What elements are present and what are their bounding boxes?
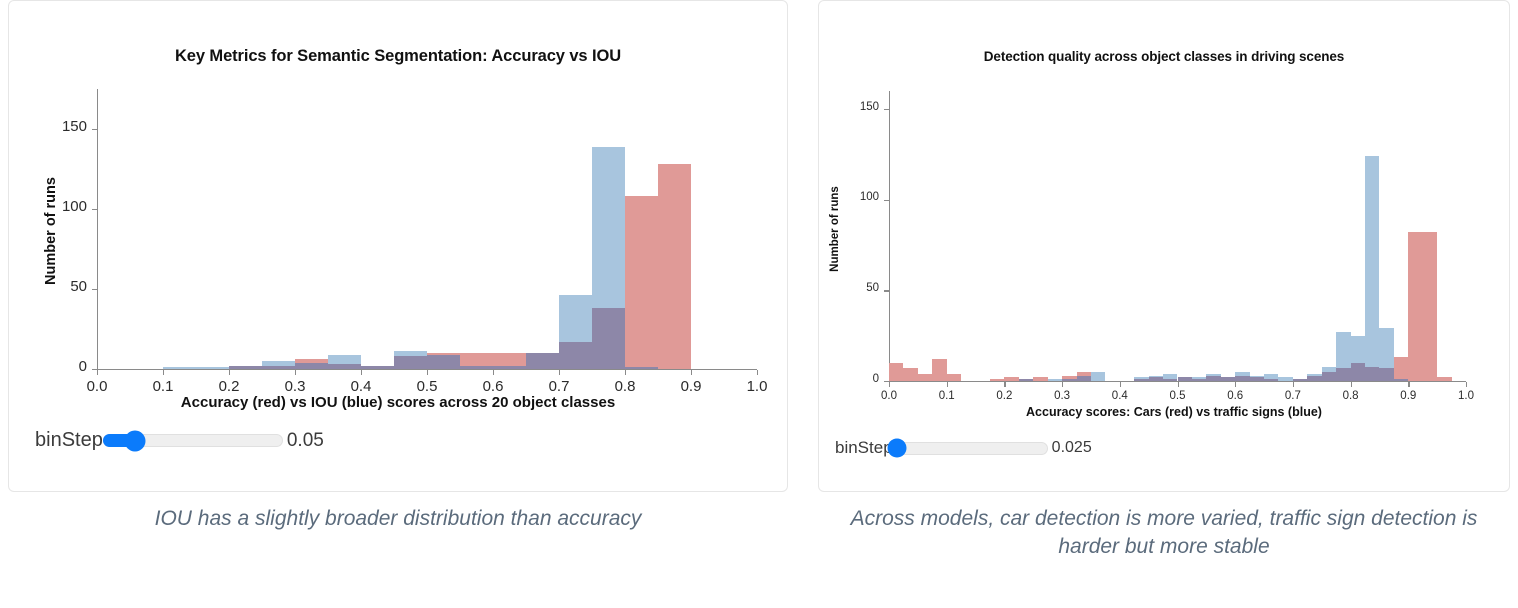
bar-overlap (1394, 379, 1408, 381)
y-tick-label: 100 (62, 198, 87, 215)
bar-overlap (1365, 367, 1379, 382)
bar-overlap (262, 366, 295, 369)
bar-blue (1365, 156, 1379, 381)
x-tick-label: 0.7 (1285, 390, 1301, 402)
x-tick-label: 0.8 (615, 378, 636, 395)
bar-overlap (361, 366, 394, 369)
bar-blue (196, 367, 229, 369)
bar-red (889, 363, 903, 381)
x-tick (1120, 382, 1121, 387)
y-tick-label: 50 (70, 278, 87, 295)
x-tick (889, 382, 890, 387)
bar-overlap (1192, 379, 1206, 381)
bar-overlap (1019, 379, 1033, 381)
x-tick (1178, 382, 1179, 387)
bar-overlap (1250, 377, 1264, 381)
bar-overlap (1235, 376, 1249, 381)
bar-overlap (1077, 376, 1091, 381)
x-tick-label: 0.0 (881, 390, 897, 402)
bar-blue (1278, 377, 1292, 381)
chart-title-left: Key Metrics for Semantic Segmentation: A… (9, 47, 787, 66)
caption-left: IOU has a slightly broader distribution … (18, 505, 778, 533)
x-tick (1293, 382, 1294, 387)
y-tick-label: 150 (62, 118, 87, 135)
y-tick-label: 0 (873, 373, 879, 385)
x-tick-label: 0.1 (153, 378, 174, 395)
x-tick-label: 0.4 (351, 378, 372, 395)
x-tick (493, 370, 494, 375)
x-axis-label-right: Accuracy scores: Cars (red) vs traffic s… (849, 405, 1499, 419)
x-tick (1408, 382, 1409, 387)
x-tick-label: 1.0 (747, 378, 768, 395)
y-tick (92, 209, 97, 210)
x-tick-label: 1.0 (1458, 390, 1474, 402)
x-axis-label-left: Accuracy (red) vs IOU (blue) scores acro… (9, 394, 787, 411)
bar-red (947, 374, 961, 381)
slider-right[interactable] (893, 442, 1048, 455)
chart-title-right: Detection quality across object classes … (819, 49, 1509, 64)
bar-overlap (493, 366, 526, 369)
chart-card-right: Detection quality across object classes … (818, 0, 1510, 492)
y-tick (884, 109, 889, 110)
slider-label-left: binStep (35, 429, 103, 452)
bar-overlap (460, 366, 493, 369)
x-tick-label: 0.9 (681, 378, 702, 395)
x-tick-label: 0.2 (996, 390, 1012, 402)
x-tick-label: 0.3 (1054, 390, 1070, 402)
x-tick-label: 0.3 (285, 378, 306, 395)
x-tick-label: 0.7 (549, 378, 570, 395)
x-tick (757, 370, 758, 375)
x-tick (163, 370, 164, 375)
plot-area-right: 0501001500.00.10.20.30.40.50.60.70.80.91… (889, 91, 1466, 381)
bar-overlap (1178, 377, 1192, 381)
plot-area-left: 0501001500.00.10.20.30.40.50.60.70.80.91… (97, 89, 757, 369)
y-tick (884, 290, 889, 291)
slider-row-left[interactable]: binStep 0.05 (35, 429, 324, 452)
x-tick (295, 370, 296, 375)
x-tick (229, 370, 230, 375)
bar-overlap (1307, 376, 1321, 381)
y-tick-label: 100 (860, 191, 879, 203)
x-tick-label: 0.1 (939, 390, 955, 402)
bar-overlap (625, 367, 658, 369)
bar-overlap (559, 342, 592, 369)
panel-right: Detection quality across object classes … (818, 0, 1510, 492)
y-tick (92, 129, 97, 130)
x-tick-label: 0.8 (1343, 390, 1359, 402)
x-tick (1004, 382, 1005, 387)
bar-blue (163, 367, 196, 369)
bar-red (658, 164, 691, 369)
slider-left[interactable] (103, 434, 283, 447)
x-tick (361, 370, 362, 375)
bar-overlap (1206, 376, 1220, 381)
y-tick-label: 0 (79, 358, 87, 375)
x-tick-label: 0.5 (1170, 390, 1186, 402)
y-axis-label-left: Number of runs (43, 161, 59, 301)
slider-value-right: 0.025 (1052, 439, 1092, 457)
x-tick-label: 0.5 (417, 378, 438, 395)
y-tick (884, 200, 889, 201)
bar-overlap (1293, 379, 1307, 381)
slider-value-left: 0.05 (287, 430, 324, 452)
bar-red (1408, 232, 1422, 381)
bar-overlap (1264, 379, 1278, 381)
x-tick-label: 0.4 (1112, 390, 1128, 402)
bar-overlap (1149, 377, 1163, 381)
bar-overlap (592, 308, 625, 369)
y-axis-line (889, 91, 890, 381)
bar-overlap (1062, 379, 1076, 381)
x-tick (1062, 382, 1063, 387)
screenshot-root: Key Metrics for Semantic Segmentation: A… (0, 0, 1518, 608)
bar-red (903, 368, 917, 381)
y-tick-label: 150 (860, 101, 879, 113)
x-tick (1235, 382, 1236, 387)
x-tick (947, 382, 948, 387)
slider-thumb-left[interactable] (124, 430, 145, 451)
bar-blue (1048, 379, 1062, 381)
y-axis-label-right: Number of runs (829, 169, 841, 289)
bar-overlap (328, 364, 361, 369)
slider-track-right[interactable] (893, 442, 1048, 455)
x-tick-label: 0.9 (1400, 390, 1416, 402)
bar-overlap (427, 355, 460, 369)
bar-overlap (229, 366, 262, 369)
bar-red (1033, 377, 1047, 381)
x-tick (559, 370, 560, 375)
bar-overlap (1379, 368, 1393, 381)
chart-card-left: Key Metrics for Semantic Segmentation: A… (8, 0, 788, 492)
x-tick (625, 370, 626, 375)
x-tick-label: 0.6 (1227, 390, 1243, 402)
caption-right: Across models, car detection is more var… (828, 505, 1500, 562)
bar-blue (1091, 372, 1105, 381)
bar-overlap (1134, 379, 1148, 381)
x-tick (427, 370, 428, 375)
bar-red (1423, 232, 1437, 381)
y-axis-line (97, 89, 98, 369)
bar-overlap (1336, 368, 1350, 381)
bar-red (1394, 357, 1408, 381)
panel-left: Key Metrics for Semantic Segmentation: A… (8, 0, 788, 492)
bar-red (625, 196, 658, 369)
slider-label-right: binStep (835, 438, 893, 458)
x-tick (97, 370, 98, 375)
bar-red (1437, 377, 1451, 381)
x-tick (691, 370, 692, 375)
bar-red (932, 359, 946, 381)
bar-red (1004, 377, 1018, 381)
x-tick-label: 0.2 (219, 378, 240, 395)
bar-overlap (1221, 377, 1235, 381)
x-tick-label: 0.0 (87, 378, 108, 395)
bar-overlap (1163, 379, 1177, 381)
bar-overlap (526, 353, 559, 369)
bar-overlap (1322, 372, 1336, 381)
bar-red (918, 374, 932, 381)
slider-row-right[interactable]: binStep 0.025 (835, 438, 1092, 458)
bar-overlap (1351, 363, 1365, 381)
x-tick (1351, 382, 1352, 387)
x-tick (1466, 382, 1467, 387)
bar-overlap (394, 356, 427, 369)
bar-overlap (295, 363, 328, 369)
x-tick-label: 0.6 (483, 378, 504, 395)
slider-thumb-right[interactable] (887, 439, 906, 458)
bar-red (990, 379, 1004, 381)
y-tick-label: 50 (866, 282, 879, 294)
y-tick (92, 289, 97, 290)
